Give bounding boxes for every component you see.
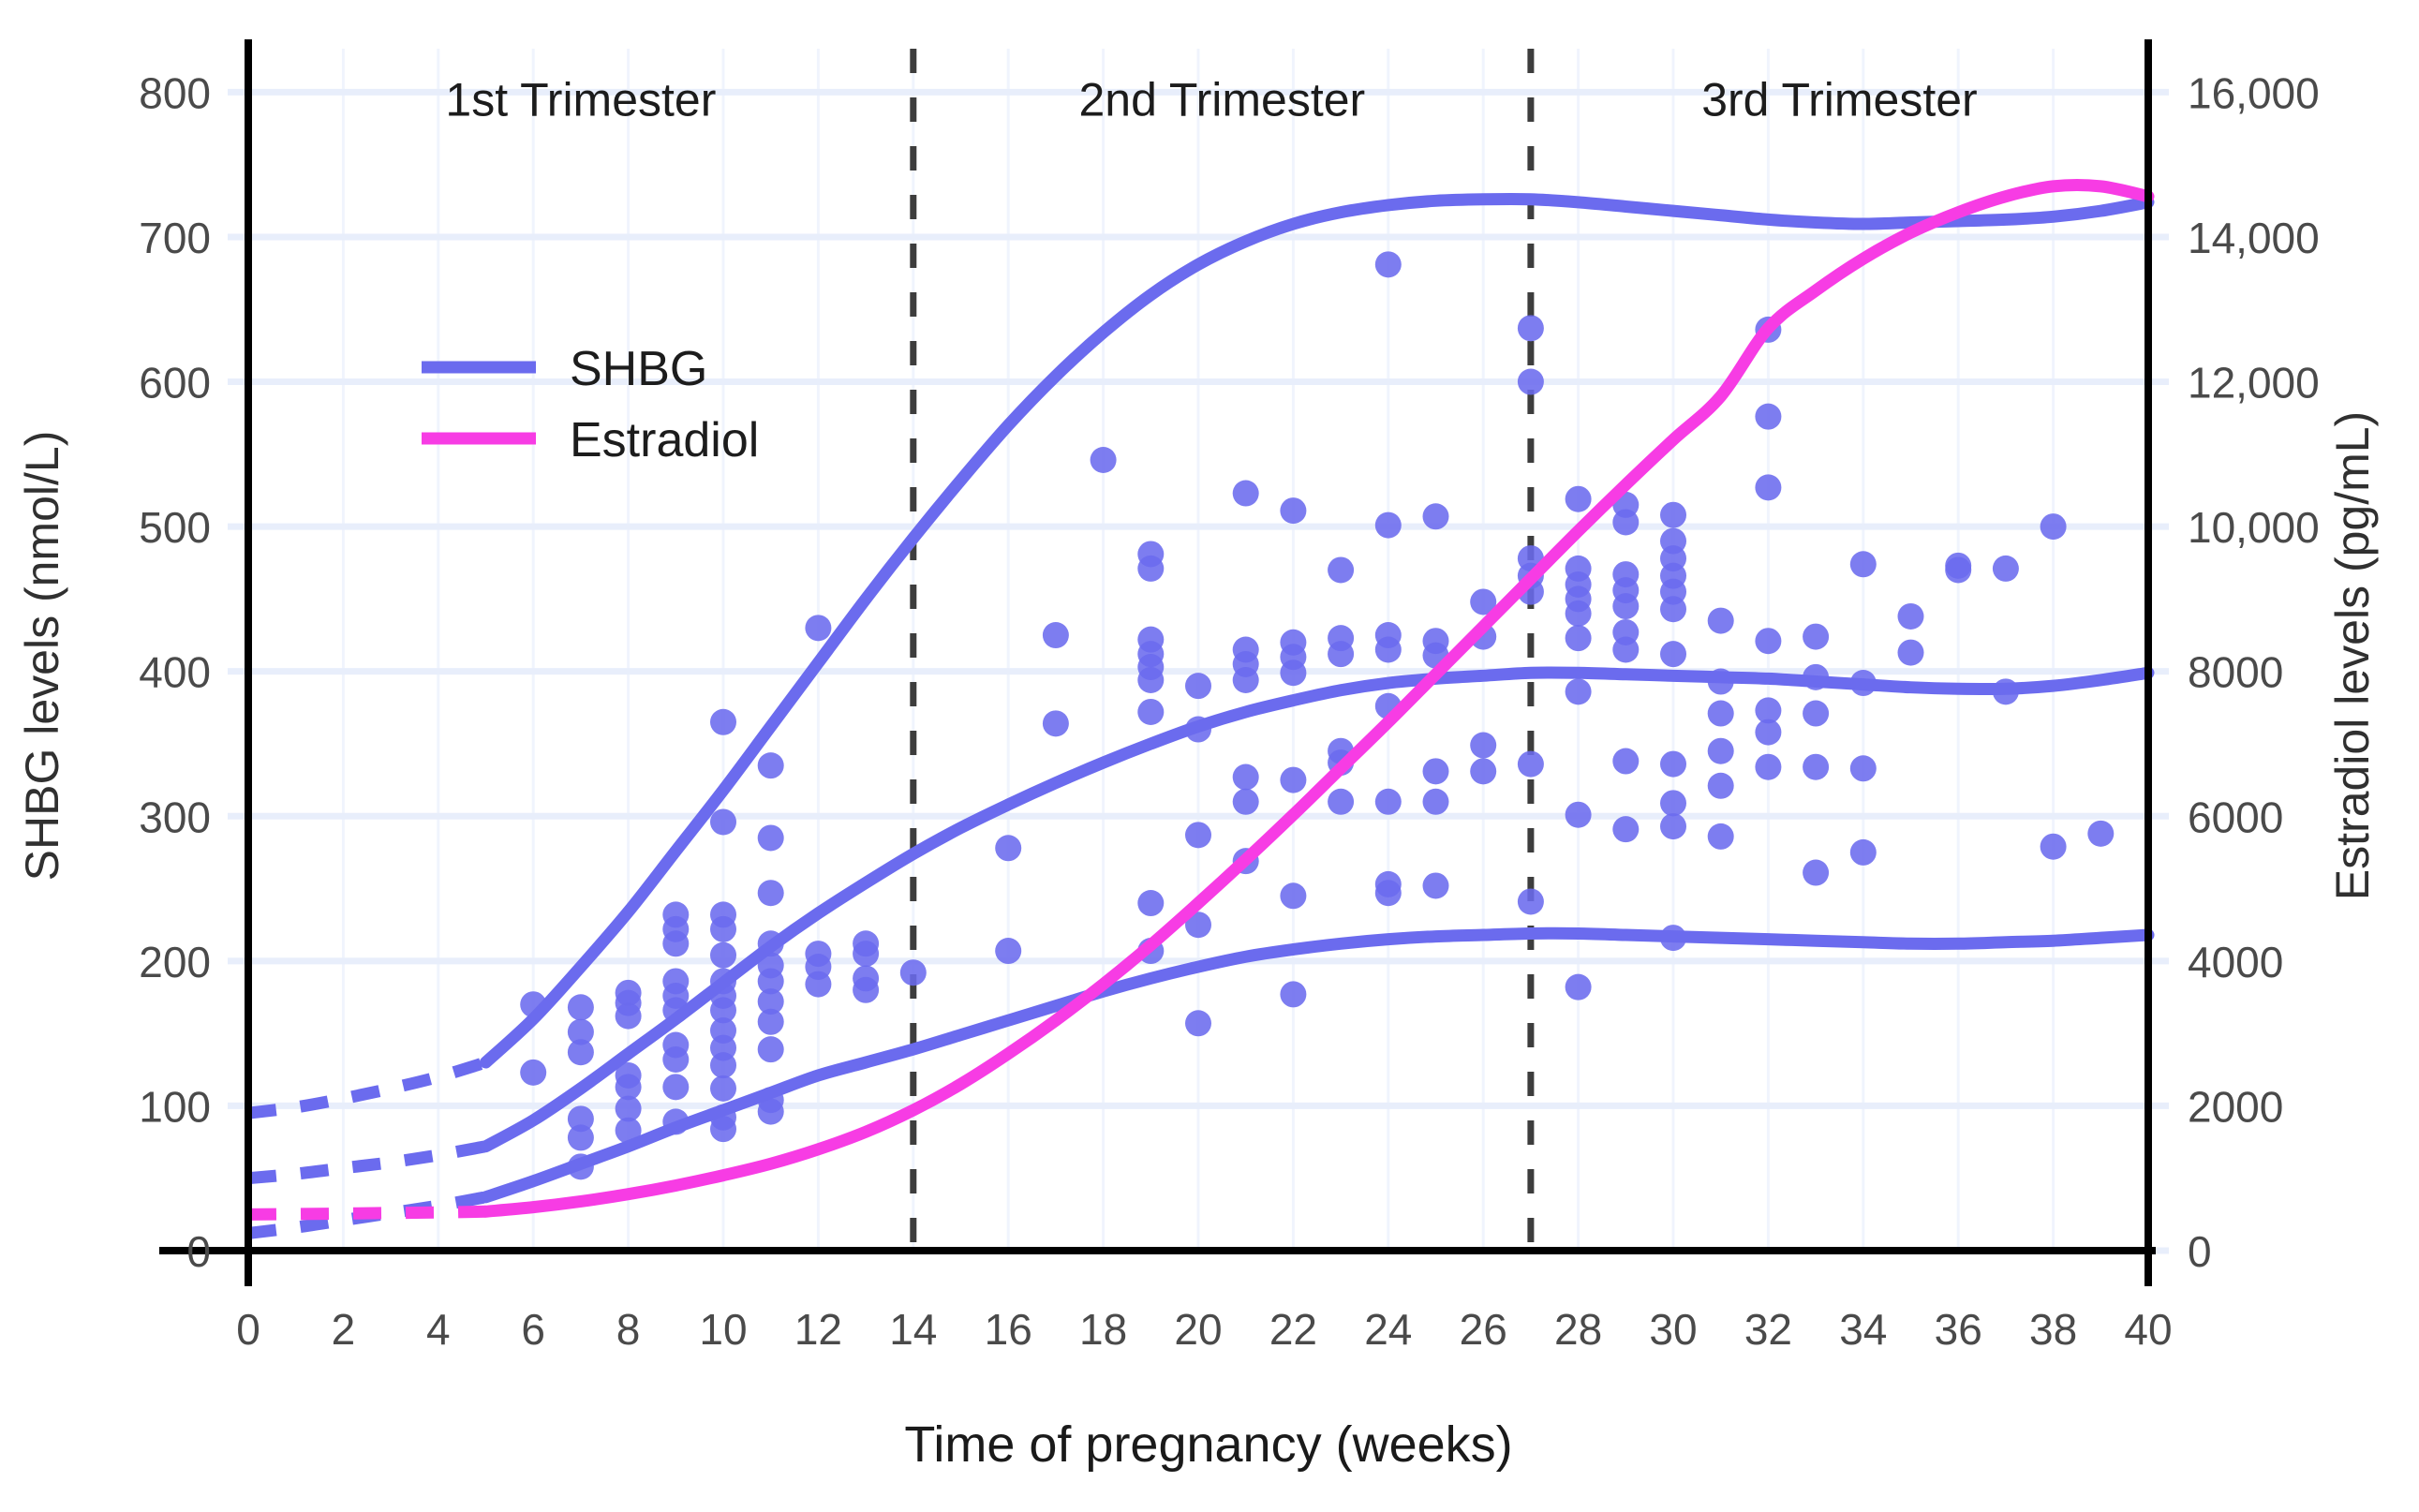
x-tick-labels: 0246810121416182022242628303234363840	[236, 1305, 2172, 1354]
scatter-point	[995, 835, 1021, 861]
figure-background	[0, 0, 2419, 1512]
scatter-point	[805, 971, 831, 998]
scatter-point	[758, 1009, 784, 1035]
scatter-point	[1280, 981, 1306, 1007]
legend-label: SHBG	[570, 342, 707, 396]
scatter-point	[1755, 474, 1781, 500]
y-tick-label: 500	[139, 503, 211, 552]
x-tick-label: 18	[1079, 1305, 1127, 1354]
y2-tick-label: 16,000	[2188, 68, 2320, 117]
scatter-point	[1328, 641, 1354, 667]
y2-axis-title: Estradiol levels (pg/mL)	[2326, 411, 2379, 900]
y-tick-label: 0	[186, 1227, 211, 1276]
scatter-point	[1375, 637, 1402, 663]
scatter-point	[1566, 600, 1592, 627]
scatter-point	[1755, 404, 1781, 430]
scatter-point	[710, 1075, 736, 1102]
scatter-point	[1755, 628, 1781, 654]
scatter-point	[662, 1074, 689, 1100]
scatter-point	[1803, 624, 1829, 650]
scatter-point	[805, 615, 831, 641]
scatter-point	[1470, 733, 1496, 759]
x-tick-label: 2	[332, 1305, 356, 1354]
scatter-point	[1566, 486, 1592, 512]
scatter-point	[1233, 789, 1259, 815]
y-axis-title: SHBG levels (nmol/L)	[16, 431, 68, 882]
scatter-point	[1612, 593, 1639, 619]
scatter-point	[1660, 502, 1686, 528]
y-tick-labels: 0100200300400500600700800	[139, 68, 211, 1276]
legend-label: Estradiol	[570, 413, 759, 467]
scatter-point	[1280, 767, 1306, 793]
scatter-point	[1280, 497, 1306, 524]
scatter-point	[1803, 701, 1829, 727]
y2-tick-label: 2000	[2188, 1082, 2283, 1131]
scatter-point	[520, 1060, 546, 1086]
x-tick-label: 20	[1174, 1305, 1222, 1354]
x-tick-label: 28	[1554, 1305, 1602, 1354]
scatter-point	[1233, 667, 1259, 693]
scatter-point	[1423, 758, 1449, 784]
scatter-point	[1660, 790, 1686, 816]
scatter-point	[710, 808, 736, 835]
scatter-point	[1612, 749, 1639, 775]
scatter-point	[1898, 640, 1924, 666]
scatter-point	[1233, 764, 1259, 791]
scatter-point	[1518, 315, 1544, 341]
x-tick-label: 40	[2124, 1305, 2172, 1354]
scatter-point	[710, 916, 736, 942]
scatter-point	[1708, 773, 1734, 799]
y2-tick-label: 12,000	[2188, 359, 2320, 408]
scatter-point	[568, 1124, 594, 1150]
scatter-point	[710, 709, 736, 735]
scatter-point	[1708, 608, 1734, 634]
scatter-point	[853, 941, 879, 967]
x-tick-label: 6	[521, 1305, 545, 1354]
x-tick-label: 26	[1460, 1305, 1507, 1354]
scatter-point	[1185, 673, 1211, 699]
trimester-label: 1st Trimester	[445, 73, 716, 126]
scatter-point	[1660, 751, 1686, 778]
x-tick-label: 22	[1269, 1305, 1317, 1354]
x-tick-label: 4	[426, 1305, 451, 1354]
scatter-point	[1423, 789, 1449, 815]
chart-figure: 0246810121416182022242628303234363840 01…	[0, 0, 2419, 1512]
y2-tick-label: 6000	[2188, 793, 2283, 841]
scatter-point	[662, 930, 689, 956]
scatter-point	[1375, 251, 1402, 277]
y-tick-label: 600	[139, 359, 211, 408]
y2-tick-label: 8000	[2188, 648, 2283, 697]
scatter-point	[1993, 556, 2019, 582]
scatter-point	[1280, 882, 1306, 909]
y-tick-label: 300	[139, 793, 211, 841]
scatter-point	[1233, 481, 1259, 507]
scatter-point	[1660, 596, 1686, 622]
x-tick-label: 38	[2029, 1305, 2077, 1354]
scatter-point	[758, 880, 784, 906]
scatter-point	[1375, 880, 1402, 906]
scatter-point	[1850, 839, 1877, 866]
scatter-point	[1043, 622, 1069, 648]
scatter-point	[758, 752, 784, 778]
scatter-point	[710, 1052, 736, 1078]
scatter-point	[662, 1046, 689, 1073]
y2-tick-label: 0	[2188, 1227, 2212, 1276]
scatter-point	[2041, 834, 2067, 860]
x-tick-label: 8	[616, 1305, 641, 1354]
x-tick-label: 0	[236, 1305, 260, 1354]
x-tick-label: 30	[1649, 1305, 1697, 1354]
x-tick-label: 34	[1839, 1305, 1887, 1354]
scatter-point	[1708, 738, 1734, 764]
trimester-label: 3rd Trimester	[1701, 73, 1978, 126]
x-tick-label: 16	[985, 1305, 1032, 1354]
scatter-point	[710, 942, 736, 969]
x-tick-label: 36	[1935, 1305, 1982, 1354]
scatter-point	[1185, 822, 1211, 848]
scatter-point	[1660, 641, 1686, 667]
scatter-point	[758, 1036, 784, 1062]
scatter-point	[1755, 754, 1781, 780]
x-tick-label: 12	[794, 1305, 842, 1354]
scatter-point	[1137, 556, 1164, 582]
scatter-point	[1660, 813, 1686, 839]
y-tick-label: 800	[139, 68, 211, 117]
y2-tick-label: 10,000	[2188, 503, 2320, 552]
scatter-point	[1850, 551, 1877, 577]
scatter-point	[1185, 1010, 1211, 1036]
x-tick-label: 24	[1364, 1305, 1412, 1354]
scatter-point	[1375, 512, 1402, 539]
y-tick-label: 400	[139, 648, 211, 697]
scatter-point	[1137, 667, 1164, 693]
y-tick-label: 200	[139, 938, 211, 986]
scatter-point	[1945, 556, 1971, 583]
scatter-point	[1137, 890, 1164, 916]
scatter-point	[568, 1039, 594, 1065]
scatter-point	[1328, 789, 1354, 815]
scatter-point	[1091, 447, 1117, 473]
scatter-point	[1803, 754, 1829, 780]
scatter-point	[995, 938, 1021, 964]
scatter-point	[1566, 625, 1592, 651]
scatter-point	[1612, 816, 1639, 842]
scatter-point	[1612, 637, 1639, 663]
scatter-point	[1470, 758, 1496, 784]
scatter-point	[900, 959, 927, 986]
chart-svg: 0246810121416182022242628303234363840 01…	[0, 0, 2419, 1512]
scatter-point	[1375, 789, 1402, 815]
scatter-point	[853, 977, 879, 1003]
scatter-point	[2041, 513, 2067, 540]
scatter-point	[568, 994, 594, 1020]
scatter-point	[1518, 888, 1544, 914]
scatter-point	[1423, 872, 1449, 898]
scatter-point	[1898, 603, 1924, 630]
trimester-label: 2nd Trimester	[1079, 73, 1366, 126]
y2-tick-label: 14,000	[2188, 214, 2320, 262]
scatter-point	[616, 1003, 642, 1030]
trimester-labels: 1st Trimester2nd Trimester3rd Trimester	[445, 73, 1977, 126]
scatter-point	[1850, 755, 1877, 781]
y-tick-label: 100	[139, 1082, 211, 1131]
scatter-point	[1328, 556, 1354, 583]
scatter-point	[1803, 860, 1829, 886]
y-tick-label: 700	[139, 214, 211, 262]
scatter-point	[1708, 823, 1734, 850]
scatter-point	[1137, 699, 1164, 725]
x-axis-title: Time of pregnancy (weeks)	[904, 1416, 1512, 1473]
scatter-point	[1280, 660, 1306, 686]
scatter-point	[1518, 751, 1544, 778]
scatter-point	[1612, 509, 1639, 535]
x-tick-label: 10	[699, 1305, 747, 1354]
scatter-point	[1566, 678, 1592, 704]
scatter-point	[1566, 802, 1592, 828]
scatter-point	[1708, 701, 1734, 727]
scatter-point	[1755, 719, 1781, 746]
x-tick-label: 32	[1744, 1305, 1792, 1354]
scatter-point	[2087, 821, 2114, 847]
scatter-point	[758, 824, 784, 851]
scatter-point	[1566, 974, 1592, 1001]
scatter-point	[1043, 710, 1069, 736]
scatter-point	[1423, 503, 1449, 529]
y2-tick-label: 4000	[2188, 938, 2283, 986]
scatter-point	[1518, 369, 1544, 395]
x-tick-label: 14	[889, 1305, 937, 1354]
